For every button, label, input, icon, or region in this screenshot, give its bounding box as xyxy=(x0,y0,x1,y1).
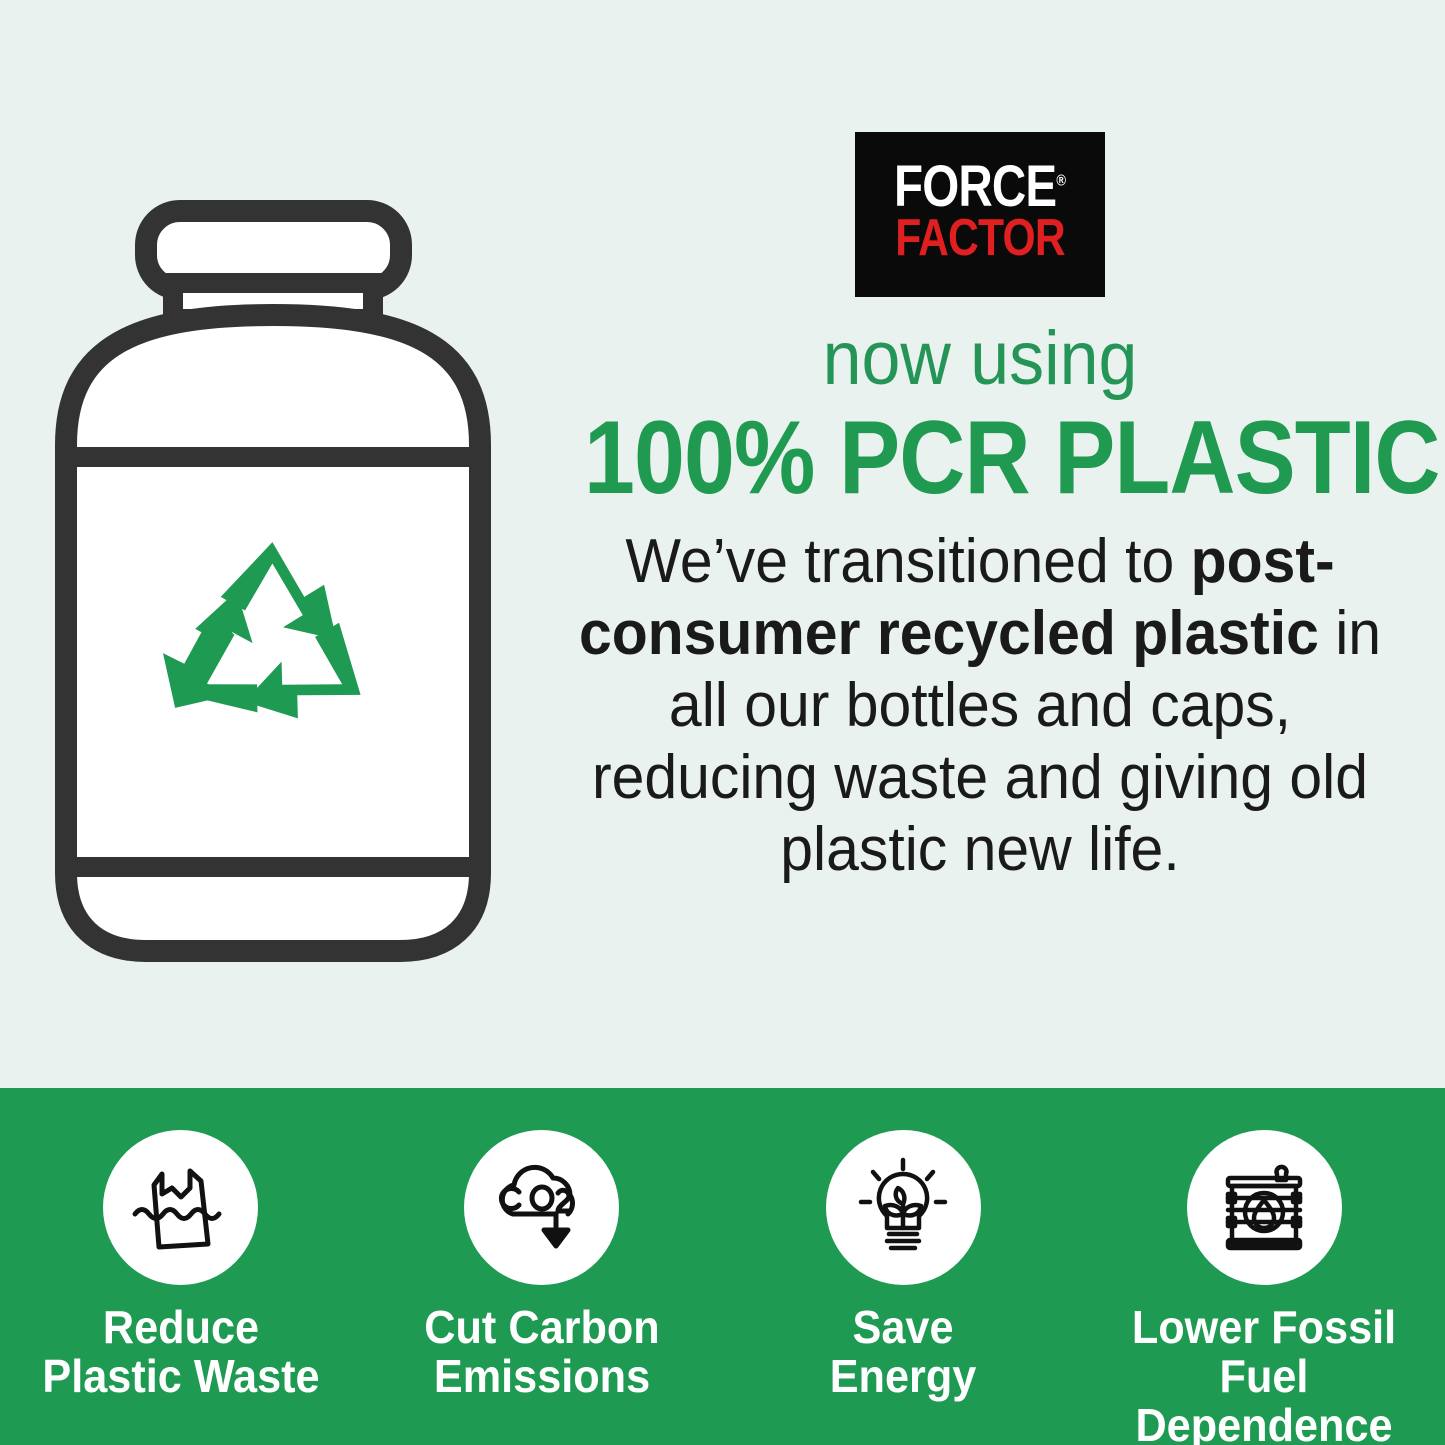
lightbulb-plant-icon xyxy=(847,1152,959,1264)
benefit-item-lower-fossil-fuel-dependence: Lower Fossil Fuel Dependence xyxy=(1094,1130,1434,1445)
benefit-label: Reduce Plastic Waste xyxy=(21,1303,341,1401)
hero-section: FORCE® FACTOR now using 100% PCR PLASTIC… xyxy=(0,0,1445,1088)
eyebrow-label: now using xyxy=(566,323,1394,395)
protein-tub-jar-illustration xyxy=(48,195,498,970)
benefit-label: Lower Fossil Fuel Dependence xyxy=(1105,1303,1425,1445)
benefits-band: Reduce Plastic Waste Cut Carbon E xyxy=(0,1088,1445,1445)
co2-cloud-down-arrow-icon xyxy=(486,1152,598,1264)
infographic-page: FORCE® FACTOR now using 100% PCR PLASTIC… xyxy=(0,0,1445,1445)
logo-word-force: FORCE® xyxy=(878,158,1083,216)
benefit-label: Cut Carbon Emissions xyxy=(382,1303,702,1401)
logo-word-factor: FACTOR xyxy=(878,212,1083,264)
page-title: 100% PCR PLASTIC xyxy=(584,409,1376,508)
benefit-item-reduce-plastic-waste: Reduce Plastic Waste xyxy=(11,1130,351,1401)
benefit-icon-circle xyxy=(464,1130,619,1285)
benefit-label: Save Energy xyxy=(743,1303,1063,1401)
body-paragraph: We’ve transitioned to post-consumer recy… xyxy=(553,526,1408,886)
benefit-icon-circle xyxy=(1187,1130,1342,1285)
benefit-item-cut-carbon-emissions: Cut Carbon Emissions xyxy=(372,1130,712,1401)
benefit-icon-circle xyxy=(826,1130,981,1285)
body-text-part1: We’ve transitioned to xyxy=(625,527,1190,596)
oil-barrel-droplet-icon xyxy=(1208,1152,1320,1264)
benefit-item-save-energy: Save Energy xyxy=(733,1130,1073,1401)
registered-trademark-icon: ® xyxy=(1056,173,1066,190)
plastic-bag-in-water-icon xyxy=(125,1152,237,1264)
hero-text-column: FORCE® FACTOR now using 100% PCR PLASTIC… xyxy=(530,120,1430,970)
benefit-icon-circle xyxy=(103,1130,258,1285)
force-factor-logo: FORCE® FACTOR xyxy=(855,132,1105,297)
